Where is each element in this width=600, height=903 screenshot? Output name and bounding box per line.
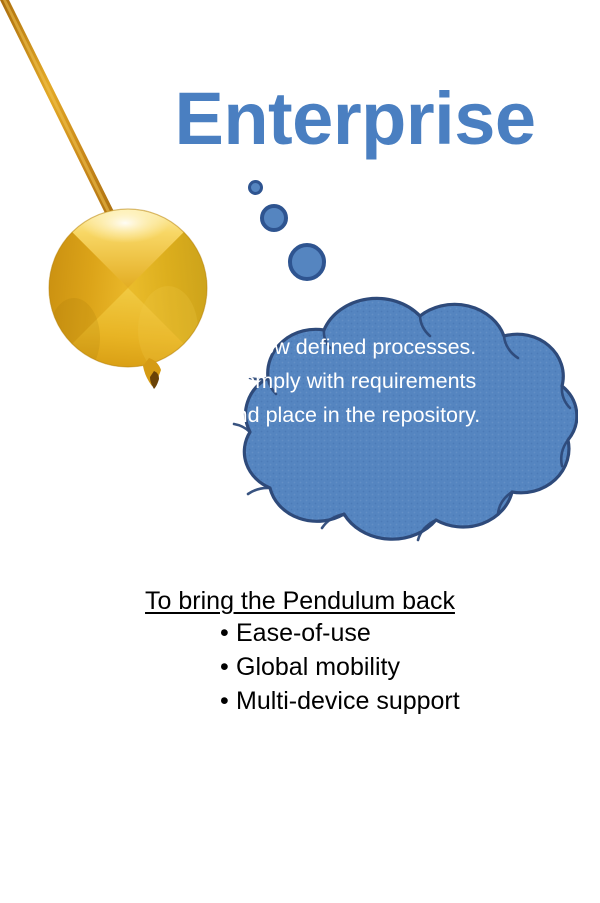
thought-dot-large: [288, 243, 326, 281]
list-item-label: Global mobility: [236, 653, 400, 681]
list-item: • Ease-of-use: [0, 616, 600, 650]
bring-back-heading: To bring the Pendulum back: [0, 586, 600, 616]
list-item-label: Multi-device support: [236, 687, 460, 715]
thought-dot-medium: [260, 204, 288, 232]
list-item: • Global mobility: [0, 650, 600, 684]
pendulum-rod: [0, 0, 140, 268]
list-item: • Multi-device support: [0, 684, 600, 718]
thought-dot-small: [248, 180, 263, 195]
benefits-bullet-list: • Ease-of-use • Global mobility • Multi-…: [0, 616, 600, 718]
bullet-icon: •: [220, 616, 229, 650]
bullet-icon: •: [220, 684, 229, 718]
cloud-text: Follow defined processes. Comply with re…: [222, 330, 482, 432]
bottom-text-block: To bring the Pendulum back • Ease-of-use…: [0, 586, 600, 718]
slide-canvas: Enterprise: [0, 0, 600, 903]
list-item-label: Ease-of-use: [236, 619, 371, 647]
bullet-icon: •: [220, 650, 229, 684]
page-title: Enterprise: [145, 82, 565, 156]
